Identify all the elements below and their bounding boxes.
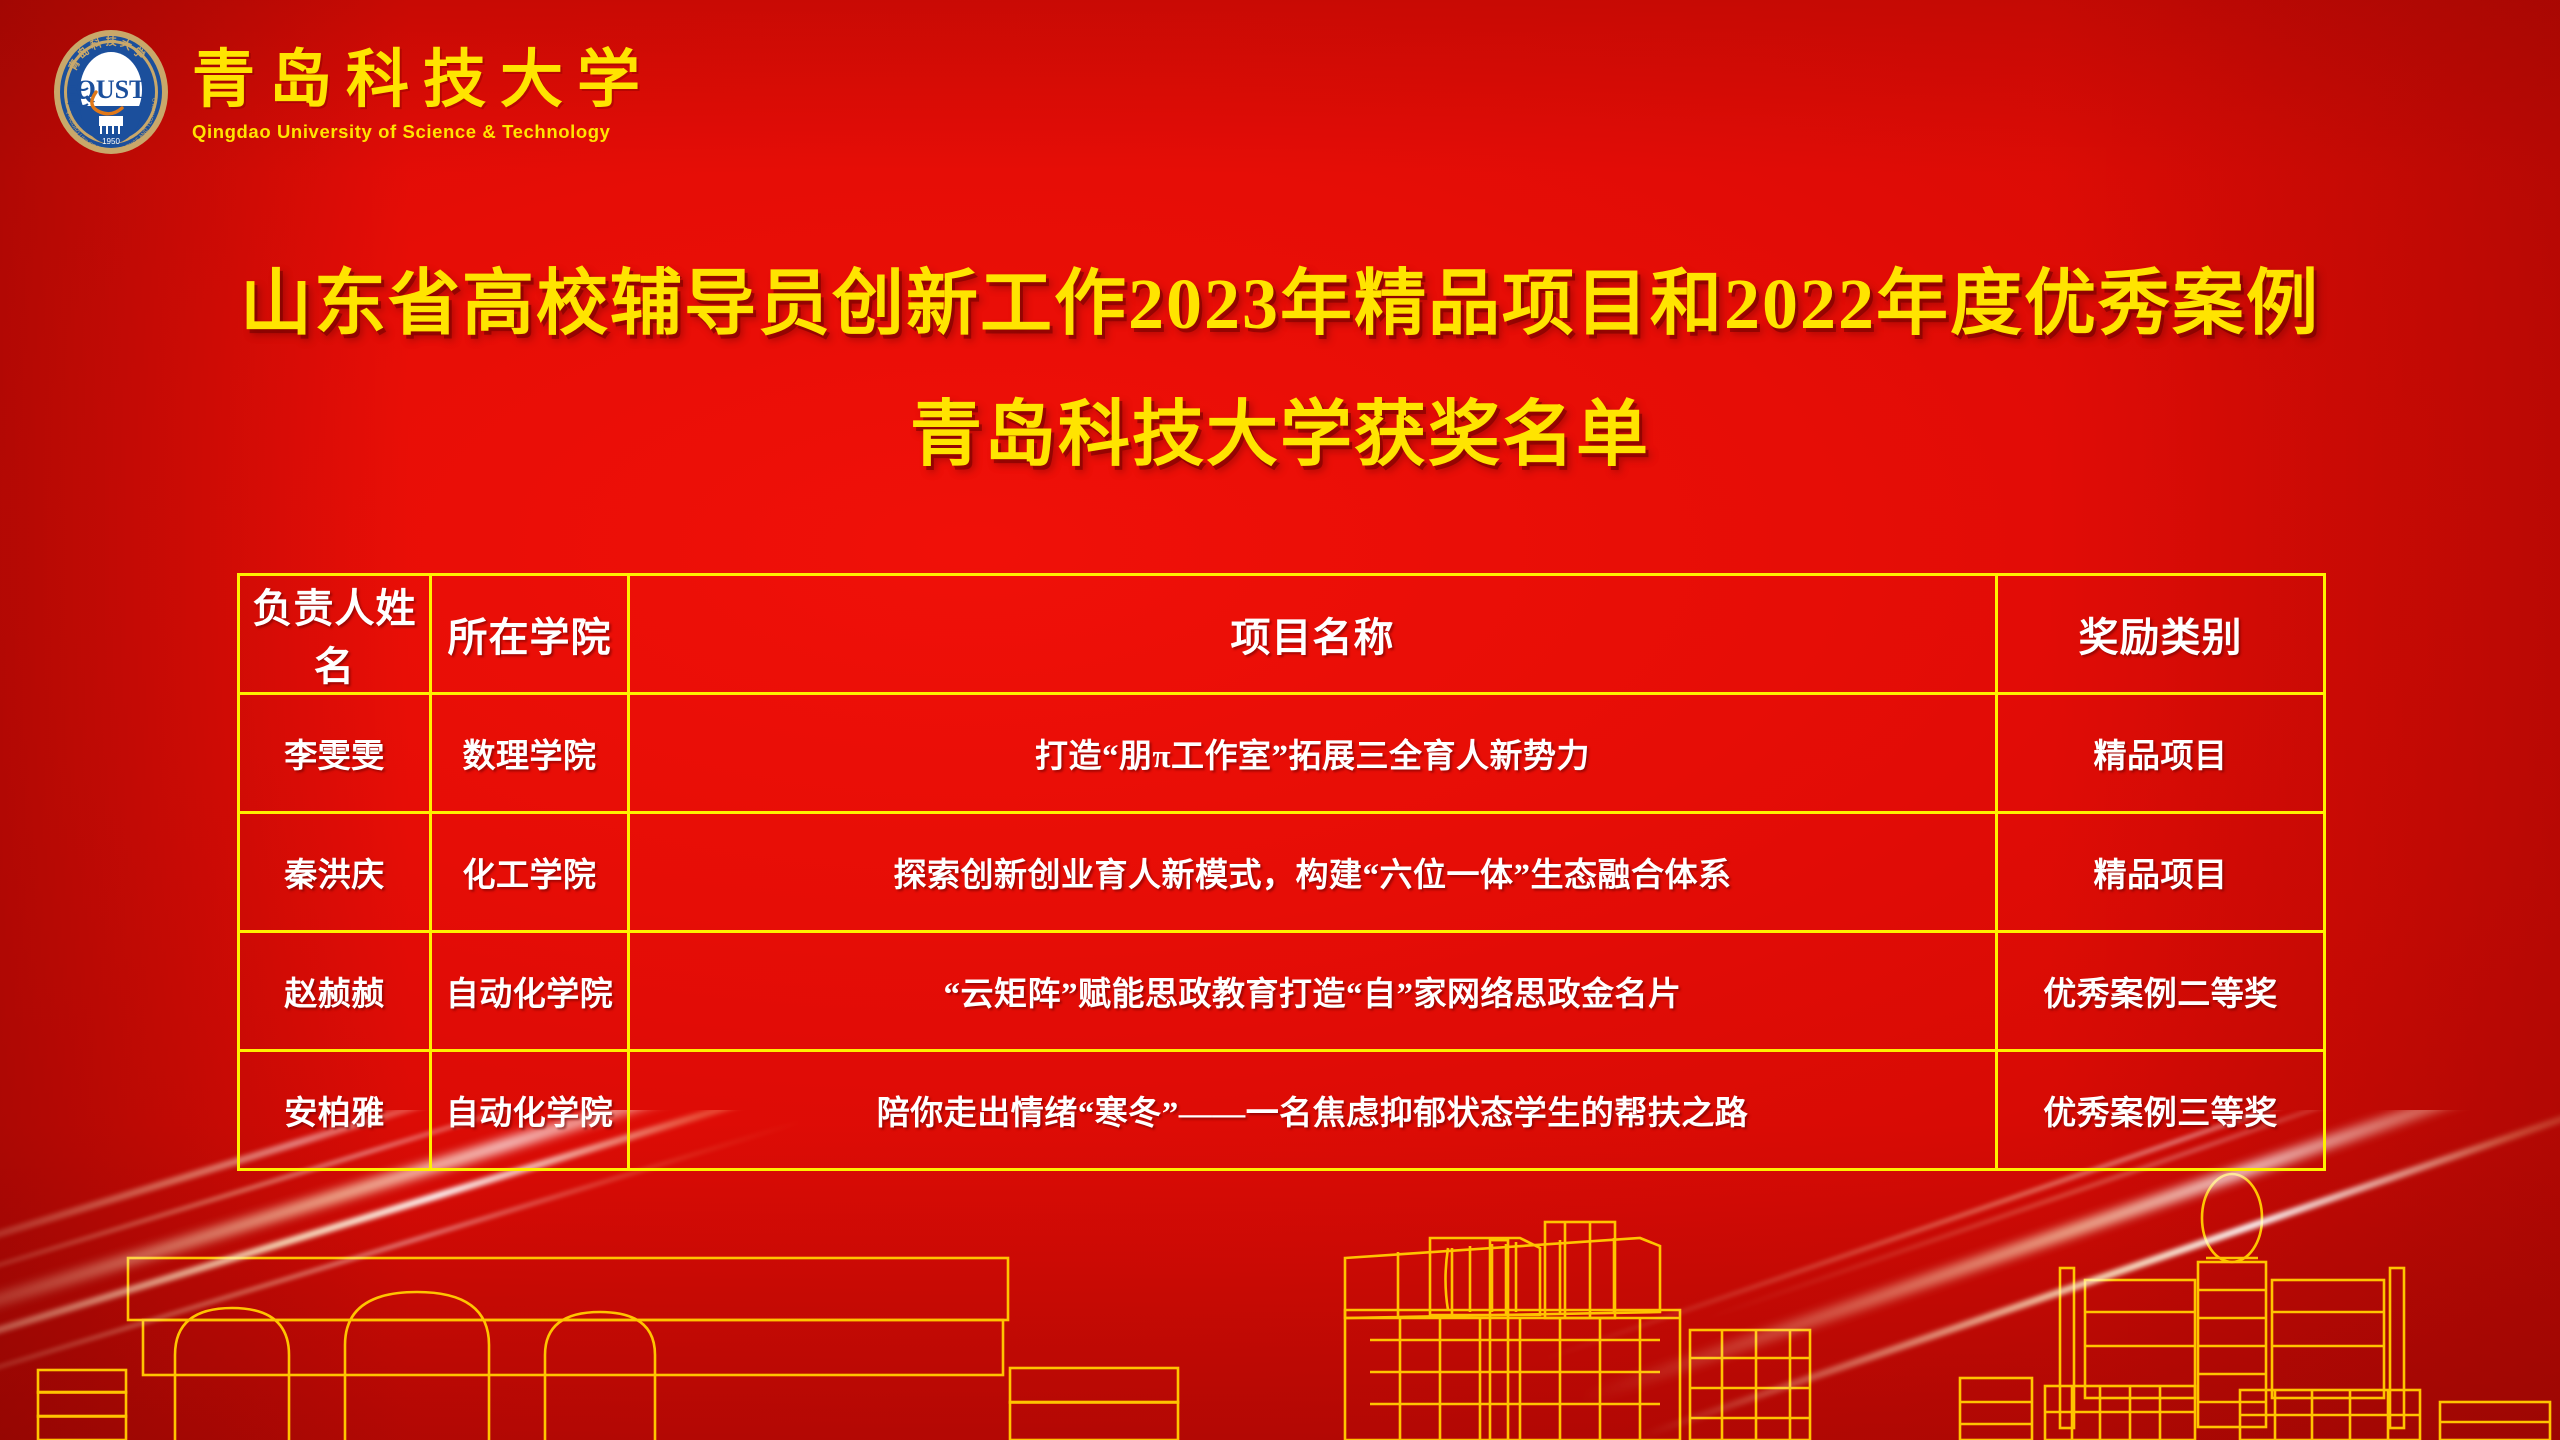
table-row: 安柏雅 自动化学院 陪你走出情绪“寒冬”——一名焦虑抑郁状态学生的帮扶之路 优秀…	[239, 1051, 2325, 1170]
cell-name: 安柏雅	[239, 1051, 431, 1170]
cell-college: 自动化学院	[431, 932, 629, 1051]
cell-name: 赵赪赪	[239, 932, 431, 1051]
table-header-project: 项目名称	[629, 575, 1997, 694]
cell-name: 李雯雯	[239, 694, 431, 813]
cell-award: 精品项目	[1997, 813, 2325, 932]
cell-award: 精品项目	[1997, 694, 2325, 813]
cell-project: 探索创新创业育人新模式，构建“六位一体”生态融合体系	[629, 813, 1997, 932]
university-seal-icon: QUST 1950 青岛科技大学 QINGDAO UNIVERSITY OF S…	[52, 28, 170, 156]
award-poster: QUST 1950 青岛科技大学 QINGDAO UNIVERSITY OF S…	[0, 0, 2560, 1440]
table-row: 秦洪庆 化工学院 探索创新创业育人新模式，构建“六位一体”生态融合体系 精品项目	[239, 813, 2325, 932]
cell-college: 化工学院	[431, 813, 629, 932]
svg-text:1950: 1950	[102, 137, 120, 146]
logo-english-name: Qingdao University of Science & Technolo…	[192, 121, 654, 143]
poster-title-line-1: 山东省高校辅导员创新工作2023年精品项目和2022年度优秀案例	[0, 262, 2560, 347]
cell-award: 优秀案例三等奖	[1997, 1051, 2325, 1170]
cell-award: 优秀案例二等奖	[1997, 932, 2325, 1051]
cell-project: “云矩阵”赋能思政教育打造“自”家网络思政金名片	[629, 932, 1997, 1051]
logo-wordmark: 青岛科技大学 Qingdao University of Science & T…	[192, 41, 654, 142]
table-header-award: 奖励类别	[1997, 575, 2325, 694]
cell-name: 秦洪庆	[239, 813, 431, 932]
campus-skyline-decoration	[0, 1140, 2560, 1440]
university-logo: QUST 1950 青岛科技大学 QINGDAO UNIVERSITY OF S…	[52, 28, 654, 156]
logo-chinese-name: 青岛科技大学	[192, 47, 654, 113]
table-header-row: 负责人姓名 所在学院 项目名称 奖励类别	[239, 575, 2325, 694]
cell-college: 自动化学院	[431, 1051, 629, 1170]
table-header-name: 负责人姓名	[239, 575, 431, 694]
poster-title-block: 山东省高校辅导员创新工作2023年精品项目和2022年度优秀案例 青岛科技大学获…	[0, 262, 2560, 478]
cell-project: 打造“朋π工作室”拓展三全育人新势力	[629, 694, 1997, 813]
cell-project: 陪你走出情绪“寒冬”——一名焦虑抑郁状态学生的帮扶之路	[629, 1051, 1997, 1170]
table-row: 赵赪赪 自动化学院 “云矩阵”赋能思政教育打造“自”家网络思政金名片 优秀案例二…	[239, 932, 2325, 1051]
cell-college: 数理学院	[431, 694, 629, 813]
table-row: 李雯雯 数理学院 打造“朋π工作室”拓展三全育人新势力 精品项目	[239, 694, 2325, 813]
table-header-college: 所在学院	[431, 575, 629, 694]
poster-title-line-2: 青岛科技大学获奖名单	[0, 393, 2560, 478]
award-list-table: 负责人姓名 所在学院 项目名称 奖励类别 李雯雯 数理学院 打造“朋π工作室”拓…	[237, 573, 2326, 1171]
